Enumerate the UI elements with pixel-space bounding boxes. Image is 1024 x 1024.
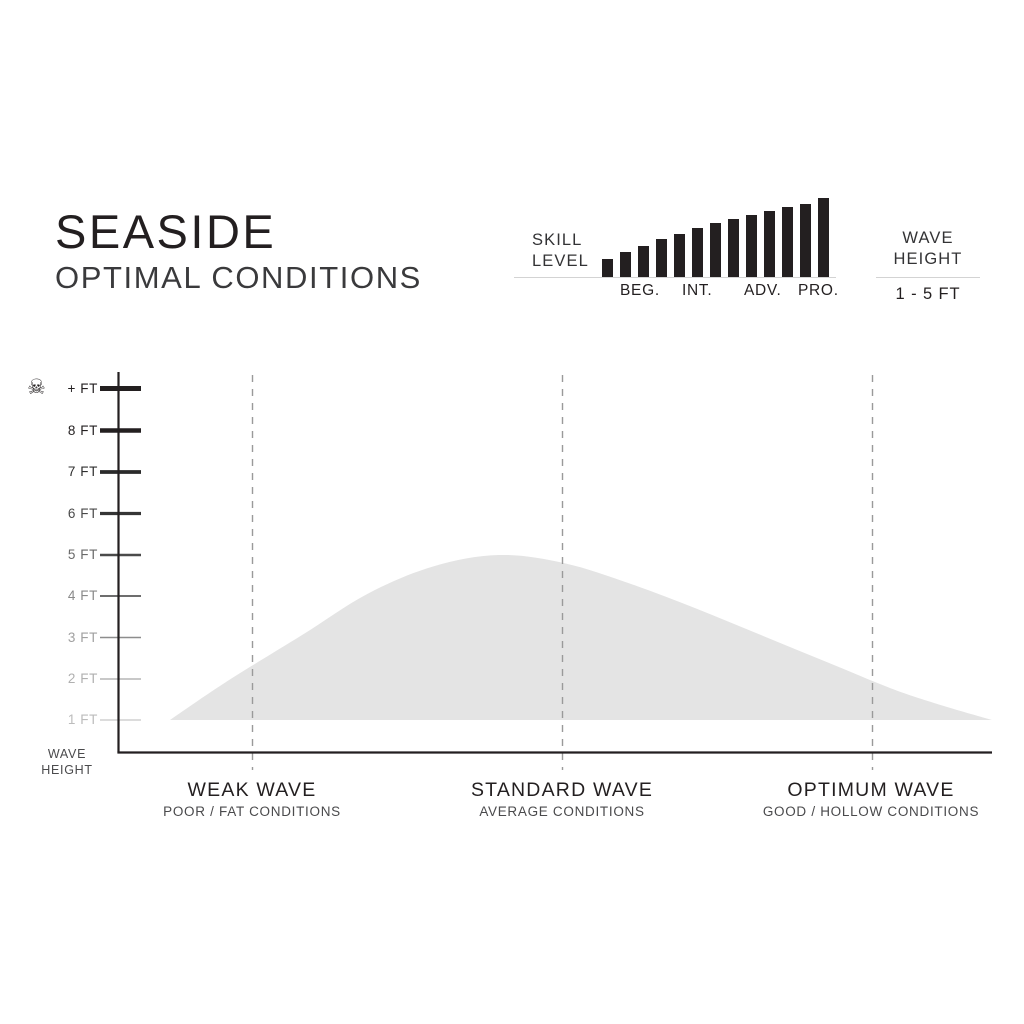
wave-curve-area xyxy=(170,555,992,720)
y-axis-title: WAVE HEIGHT xyxy=(34,746,100,778)
x-axis-category-name: WEAK WAVE xyxy=(72,778,432,802)
x-axis-category-sub: GOOD / HOLLOW CONDITIONS xyxy=(691,802,1024,821)
x-axis-category-sub: POOR / FAT CONDITIONS xyxy=(72,802,432,821)
x-axis-category-name: STANDARD WAVE xyxy=(382,778,742,802)
skull-icon: ☠ xyxy=(27,377,46,398)
y-axis-label: + FT xyxy=(52,381,98,396)
y-axis-label: 5 FT xyxy=(52,547,98,562)
x-axis-category: OPTIMUM WAVEGOOD / HOLLOW CONDITIONS xyxy=(691,778,1024,821)
x-axis-category-sub: AVERAGE CONDITIONS xyxy=(382,802,742,821)
y-axis-label: 7 FT xyxy=(52,464,98,479)
y-axis-label: 3 FT xyxy=(52,630,98,645)
x-axis-category: WEAK WAVEPOOR / FAT CONDITIONS xyxy=(72,778,432,821)
x-axis-category-name: OPTIMUM WAVE xyxy=(691,778,1024,802)
wave-curve-fill xyxy=(170,555,992,720)
y-axis-label: 6 FT xyxy=(52,506,98,521)
infographic-canvas: SEASIDE OPTIMAL CONDITIONS SKILL LEVEL B… xyxy=(0,0,1024,1024)
y-axis-title-line2: HEIGHT xyxy=(34,762,100,778)
y-axis-label: 8 FT xyxy=(52,423,98,438)
y-axis-tick-marks xyxy=(100,389,141,721)
wave-height-chart: + FT8 FT7 FT6 FT5 FT4 FT3 FT2 FT1 FT☠ WA… xyxy=(0,0,1024,1024)
chart-svg xyxy=(0,0,1024,1024)
y-axis-label: 2 FT xyxy=(52,671,98,686)
y-axis-label: 4 FT xyxy=(52,588,98,603)
x-axis-category: STANDARD WAVEAVERAGE CONDITIONS xyxy=(382,778,742,821)
y-axis-title-line1: WAVE xyxy=(34,746,100,762)
y-axis-label: 1 FT xyxy=(52,712,98,727)
